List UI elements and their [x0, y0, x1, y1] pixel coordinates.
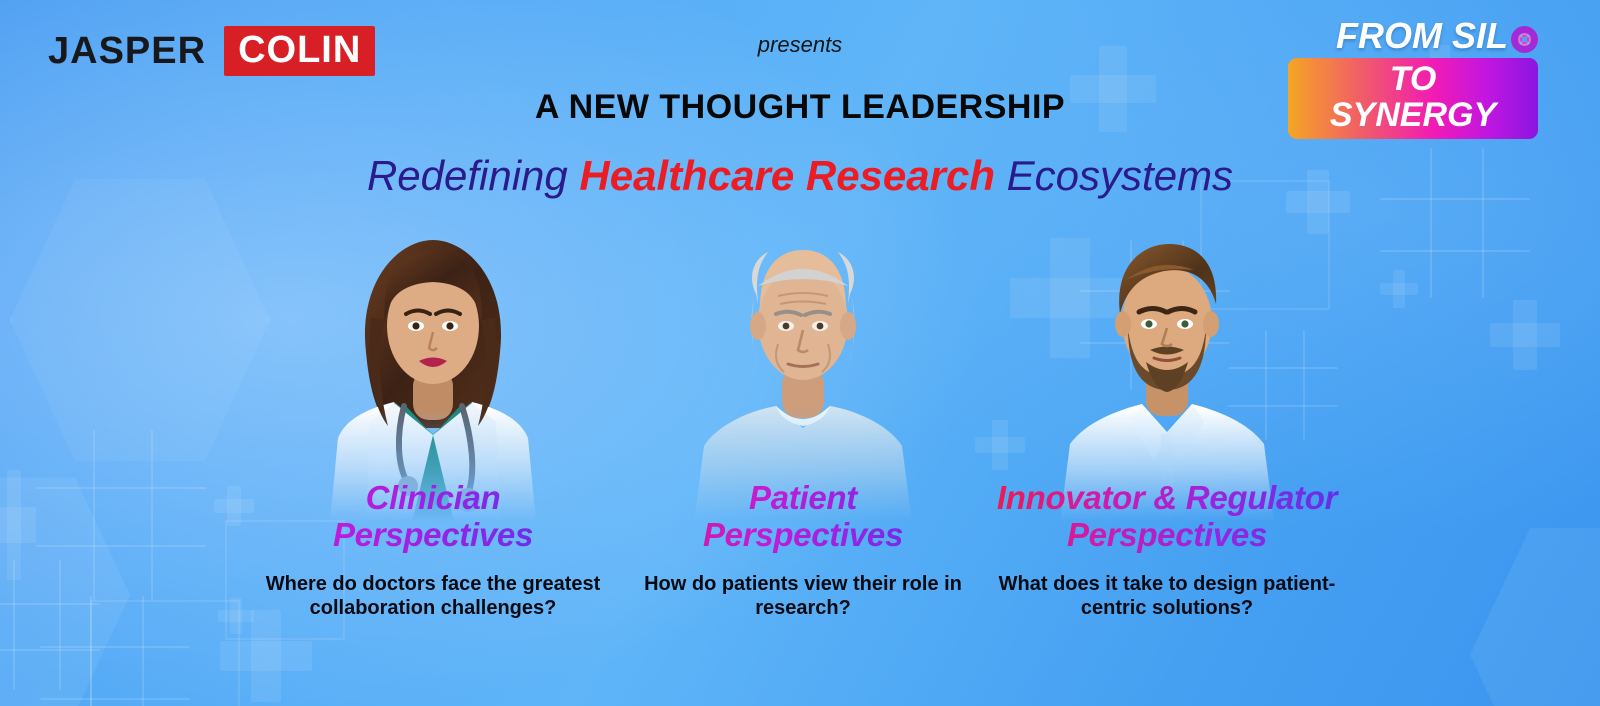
- persona-title-line-2: Perspectives: [703, 516, 903, 553]
- persona-title-patient: Patient Perspectives: [623, 480, 983, 554]
- campaign-logo-line-2: TO SYNERGY: [1288, 58, 1538, 139]
- male-innovator-photo: [1042, 222, 1292, 522]
- elderly-patient-photo: [678, 222, 928, 522]
- persona-card-patient[interactable]: Patient Perspectives How do patients vie…: [623, 222, 983, 652]
- persona-title-clinician: Clinician Perspectives: [253, 480, 613, 554]
- subtitle: Redefining Healthcare Research Ecosystem…: [0, 152, 1600, 200]
- persona-row: Clinician Perspectives Where do doctors …: [0, 222, 1600, 652]
- campaign-logo-line-1: FROM SIL: [1288, 18, 1538, 54]
- persona-title-innovator: Innovator & Regulator Perspectives: [987, 480, 1347, 554]
- persona-question-clinician: Where do doctors face the greatest colla…: [259, 572, 607, 621]
- persona-title-line-2: Perspectives: [333, 516, 533, 553]
- persona-title-line-1: Innovator & Regulator: [997, 479, 1337, 516]
- persona-question-patient: How do patients view their role in resea…: [629, 572, 977, 621]
- from-silo-to-synergy-logo[interactable]: FROM SIL TO SYNERGY: [1288, 18, 1538, 139]
- persona-card-innovator[interactable]: Innovator & Regulator Perspectives What …: [987, 222, 1347, 652]
- persona-card-clinician[interactable]: Clinician Perspectives Where do doctors …: [253, 222, 613, 652]
- campaign-logo-text-from-silo: FROM SIL: [1336, 18, 1508, 54]
- persona-title-line-2: Perspectives: [1067, 516, 1267, 553]
- persona-title-line-1: Clinician: [366, 479, 501, 516]
- persona-title-line-1: Patient: [749, 479, 857, 516]
- subtitle-part-1: Redefining: [367, 152, 579, 199]
- female-clinician-photo: [308, 222, 558, 522]
- subtitle-part-2: Ecosystems: [995, 152, 1233, 199]
- promo-banner: JASPER COLIN presents A NEW THOUGHT LEAD…: [0, 0, 1600, 706]
- persona-question-innovator: What does it take to design patient-cent…: [983, 572, 1351, 621]
- subtitle-highlight: Healthcare Research: [579, 152, 995, 199]
- ring-o-icon: [1511, 26, 1538, 53]
